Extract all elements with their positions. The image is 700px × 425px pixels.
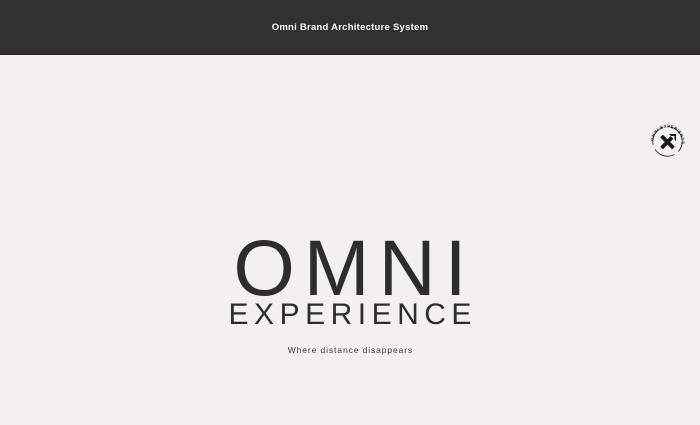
brand-wordmark: OMNI <box>0 228 700 307</box>
app-title: Omni Brand Architecture System <box>272 22 429 33</box>
titlebar: Omni Brand Architecture System <box>0 0 700 55</box>
brand-subword: EXPERIENCE <box>0 300 700 330</box>
omni-experience-seal-icon[interactable]: OMNI EXPERIENCE <box>647 121 688 162</box>
brand-architecture-screen: Omni Brand Architecture System OMNI EXPE… <box>0 0 700 425</box>
brand-stage: OMNI EXPERIENCE OMNI EXPERIENCE Where di… <box>0 56 700 425</box>
brand-tagline: Where distance disappears <box>0 346 700 355</box>
